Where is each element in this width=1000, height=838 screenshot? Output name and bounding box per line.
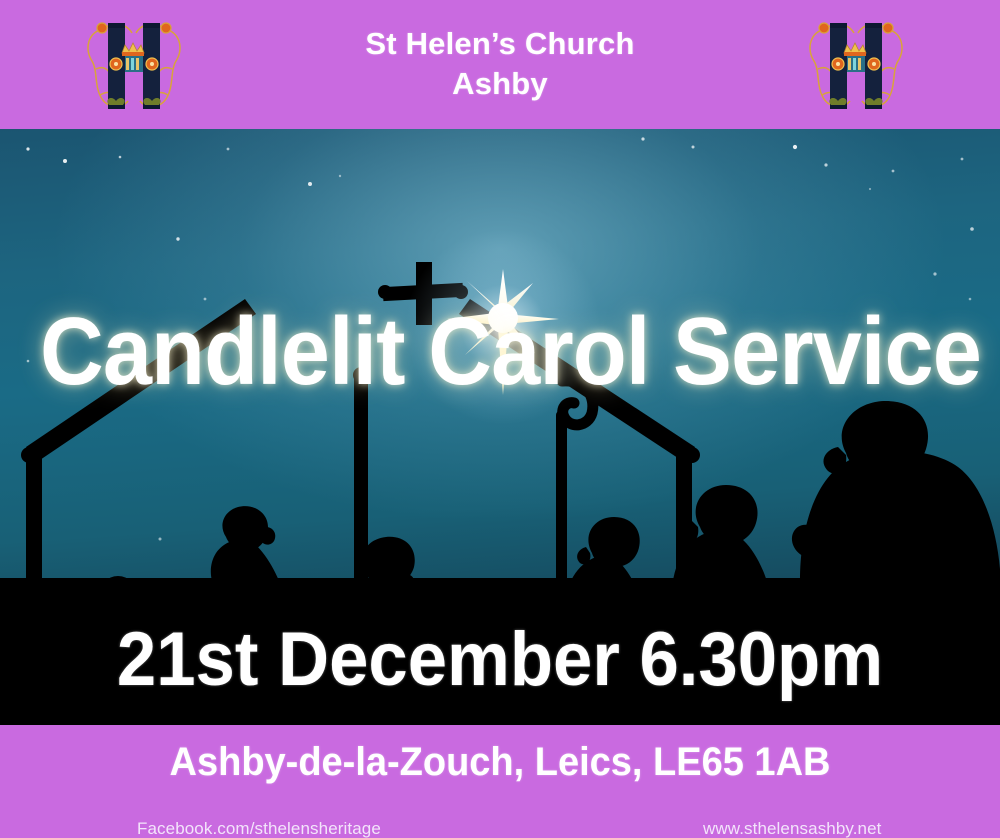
footer-band: Ashby-de-la-Zouch, Leics, LE65 1AB Faceb…: [0, 725, 1000, 838]
facebook-link[interactable]: Facebook.com/sthelensheritage: [137, 819, 381, 838]
date-band: 21st December 6.30pm: [0, 578, 1000, 725]
poster-canvas: St Helen’s Church Ashby: [0, 0, 1000, 838]
venue-address: Ashby-de-la-Zouch, Leics, LE65 1AB: [25, 742, 975, 782]
church-name-line1: St Helen’s Church: [365, 26, 634, 61]
website-link[interactable]: www.sthelensashby.net: [703, 819, 882, 838]
header-band: St Helen’s Church Ashby: [0, 0, 1000, 129]
footer-links: Facebook.com/sthelensheritage www.sthele…: [0, 819, 1000, 838]
page-title: Candlelit Carol Service: [40, 304, 960, 400]
church-monogram-right-icon: [800, 9, 912, 121]
event-datetime: 21st December 6.30pm: [35, 622, 965, 698]
